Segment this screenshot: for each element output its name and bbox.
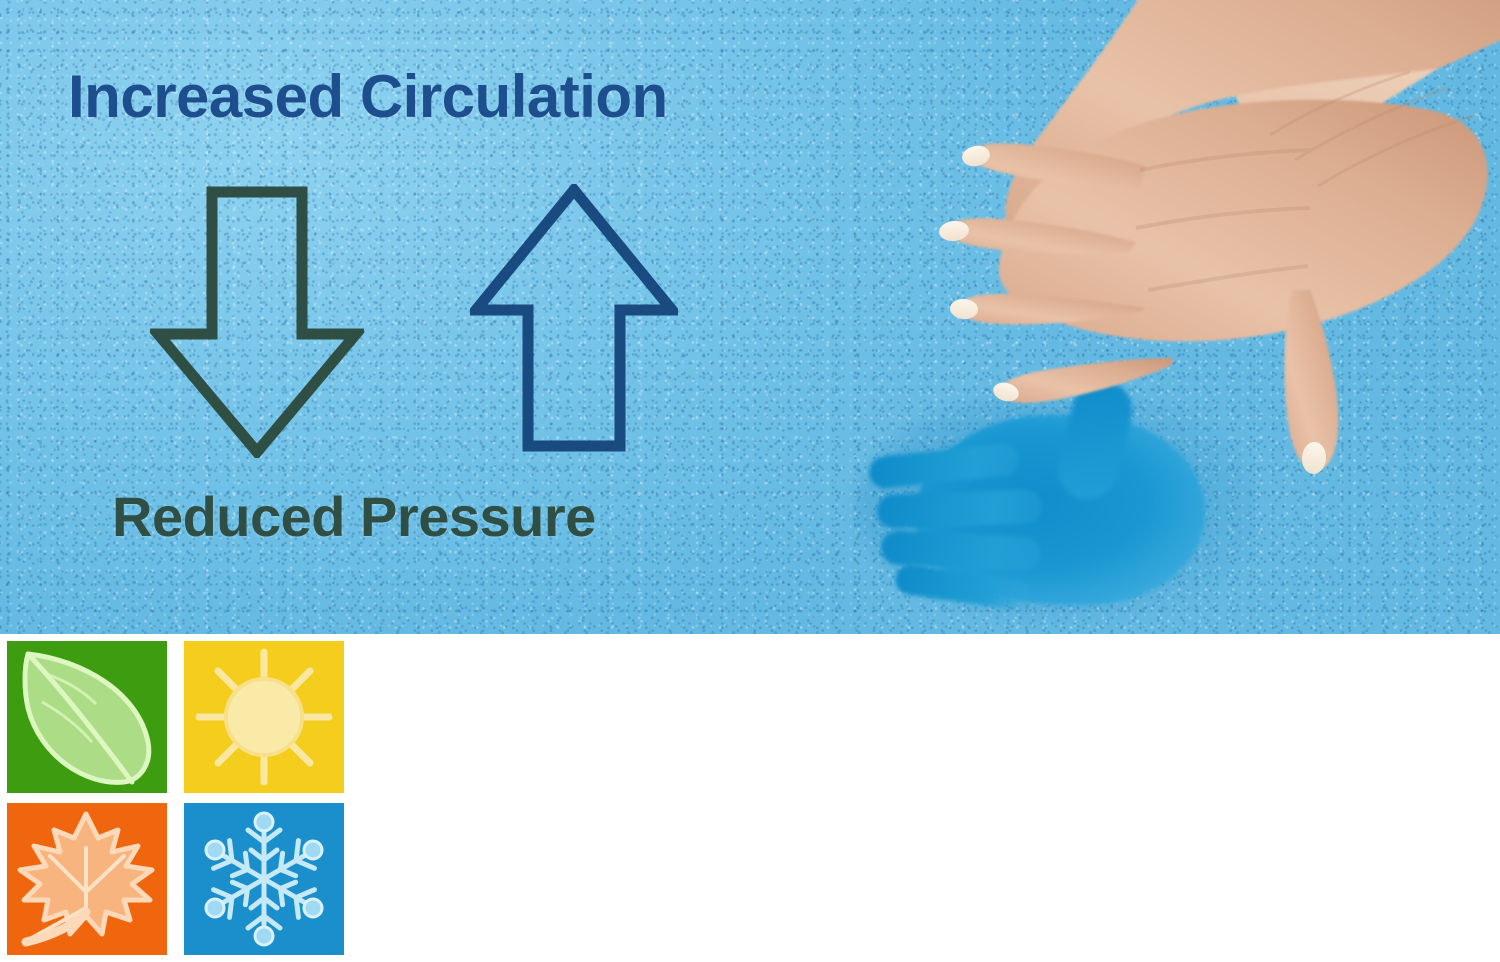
sun-tile [184, 641, 344, 793]
handprint-finger [876, 489, 1042, 529]
feature-panel: 100% GEL-Infused Memory Foam with Temper… [0, 634, 1500, 962]
maple-leaf-icon [14, 808, 160, 950]
up-arrow-icon [470, 184, 678, 452]
reduced-pressure-label: Reduced Pressure [112, 484, 596, 549]
snowflake-icon [193, 808, 335, 950]
green-leaf-tile [7, 641, 167, 793]
down-arrow-icon [150, 186, 364, 458]
snowflake-tile [184, 803, 344, 955]
sun-icon [193, 646, 335, 788]
hand-photo [840, 0, 1500, 480]
foam-photo-panel: Increased Circulation Reduced Pressure [0, 0, 1500, 634]
season-icon-grid [7, 641, 345, 955]
increased-circulation-label: Increased Circulation [68, 62, 668, 131]
finger-pinky [1000, 358, 1174, 403]
hand-illustration [840, 0, 1500, 480]
green-leaf-icon [12, 646, 162, 788]
maple-leaf-tile [7, 803, 167, 955]
product-infographic: Increased Circulation Reduced Pressure [0, 0, 1500, 962]
